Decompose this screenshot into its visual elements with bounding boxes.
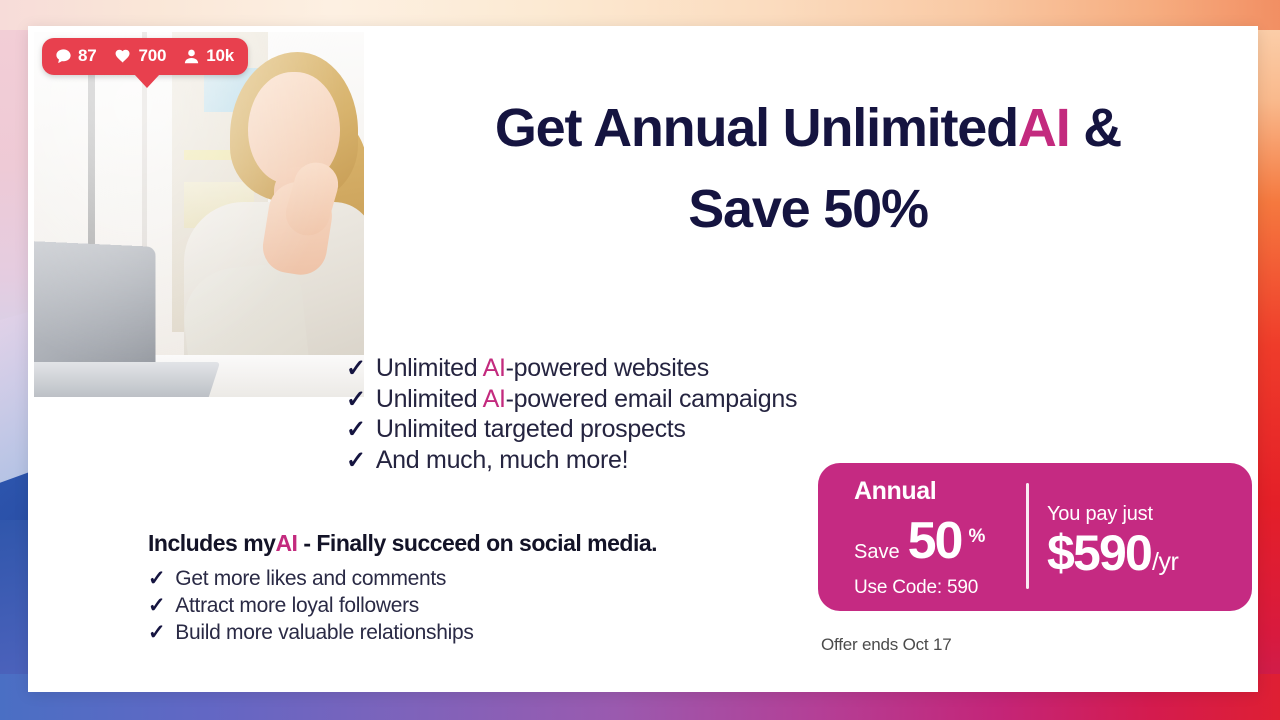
promo-banner: 87 700 (0, 0, 1280, 720)
hero-photo (34, 32, 364, 397)
feature-text-post: -powered websites (506, 354, 709, 382)
feature-text-accent: AI (483, 385, 506, 413)
feature-text-pre: Unlimited (376, 354, 483, 382)
feature-item: ✓ And much, much more! (346, 445, 797, 476)
social-heading-post: - Finally succeed on social media. (297, 530, 657, 556)
price-row: $590 /yr (1047, 528, 1252, 578)
plan-title: Annual (854, 477, 1026, 506)
feature-item: ✓ Unlimited AI-powered email campaigns (346, 384, 797, 415)
check-icon: ✓ (346, 388, 366, 412)
stat-followers-value: 10k (206, 46, 234, 66)
save-label: Save (854, 541, 900, 564)
feature-list: ✓ Unlimited AI-powered websites ✓ Unlimi… (346, 353, 797, 475)
save-unit: % (968, 526, 985, 548)
stat-followers: 10k (182, 46, 234, 66)
list-item: ✓ Attract more loyal followers (148, 593, 657, 620)
save-value: 50 (908, 518, 962, 565)
social-block-heading: Includes myAI - Finally succeed on socia… (148, 530, 657, 557)
hero-photo-container: 87 700 (34, 32, 364, 397)
feature-text: Unlimited AI-powered email campaigns (376, 384, 797, 415)
comment-icon (54, 47, 73, 66)
feature-text-accent: AI (483, 354, 506, 382)
stat-likes: 700 (113, 46, 167, 66)
pricing-card[interactable]: Annual Save 50 % Use Code: 590 You pay j… (818, 463, 1252, 611)
stat-comments-value: 87 (78, 46, 97, 66)
promo-code: Use Code: 590 (854, 577, 1026, 599)
feature-item: ✓ Unlimited AI-powered websites (346, 353, 797, 384)
feature-text: Unlimited targeted prospects (376, 414, 686, 445)
check-icon: ✓ (346, 357, 366, 381)
social-stats-badge: 87 700 (42, 38, 248, 75)
check-icon: ✓ (346, 449, 366, 473)
feature-item: ✓ Unlimited targeted prospects (346, 414, 797, 445)
pricing-card-right: You pay just $590 /yr (1029, 463, 1252, 611)
feature-text: Unlimited AI-powered websites (376, 353, 709, 384)
feature-text-post: -powered email campaigns (506, 385, 798, 413)
stat-likes-value: 700 (139, 46, 167, 66)
savings-row: Save 50 % (854, 518, 1026, 565)
social-benefit-list: ✓ Get more likes and comments ✓ Attract … (148, 566, 657, 647)
price-period: /yr (1152, 548, 1178, 577)
photo-light-overlay (34, 32, 364, 397)
headline-line1-post: & (1070, 98, 1122, 158)
social-media-block: Includes myAI - Finally succeed on socia… (148, 530, 657, 647)
price-amount: $590 (1047, 528, 1151, 578)
list-item: ✓ Build more valuable relationships (148, 620, 657, 647)
pay-label: You pay just (1047, 503, 1252, 526)
check-icon: ✓ (148, 568, 165, 589)
list-item-label: Build more valuable relationships (175, 620, 473, 647)
person-icon (182, 47, 201, 66)
offer-expiry-note: Offer ends Oct 17 (821, 635, 951, 655)
content-panel: 87 700 (28, 26, 1258, 692)
headline-ai-accent: AI (1018, 98, 1070, 158)
check-icon: ✓ (346, 418, 366, 442)
feature-text-pre: Unlimited (376, 385, 483, 413)
headline-line-2: Save 50% (388, 169, 1228, 250)
headline: Get Annual UnlimitedAI & Save 50% (388, 88, 1228, 250)
pricing-card-left: Annual Save 50 % Use Code: 590 (818, 463, 1026, 611)
social-heading-accent: AI (275, 530, 297, 556)
check-icon: ✓ (148, 622, 165, 643)
heart-icon (113, 47, 134, 66)
headline-line1-pre: Get Annual Unlimited (495, 98, 1018, 158)
list-item: ✓ Get more likes and comments (148, 566, 657, 593)
social-heading-pre: Includes my (148, 530, 275, 556)
list-item-label: Get more likes and comments (175, 566, 446, 593)
headline-line-1: Get Annual UnlimitedAI & (388, 88, 1228, 169)
check-icon: ✓ (148, 595, 165, 616)
stat-comments: 87 (54, 46, 97, 66)
list-item-label: Attract more loyal followers (175, 593, 419, 620)
feature-text: And much, much more! (376, 445, 628, 476)
